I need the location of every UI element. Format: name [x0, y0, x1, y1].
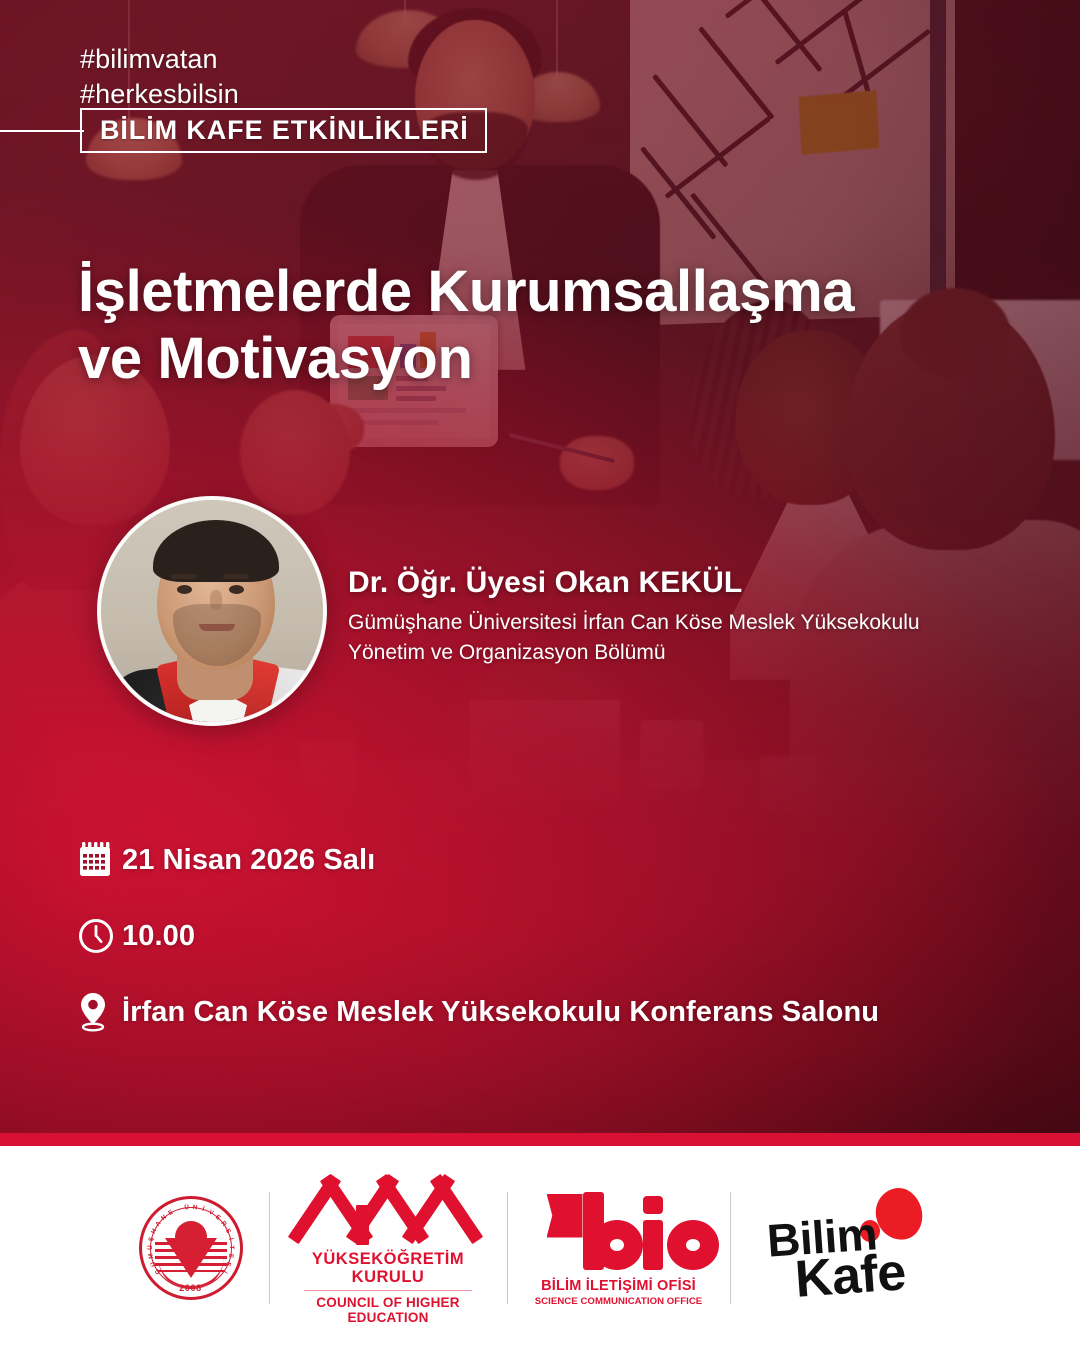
- badge-rule: [0, 130, 84, 132]
- seal-text-char: E: [167, 1209, 174, 1217]
- speaker-affiliation: Gümüşhane Üniversitesi İrfan Can Köse Me…: [348, 608, 920, 669]
- accent-bar: [0, 1133, 1080, 1146]
- seal-text-char: S: [223, 1228, 231, 1235]
- logo-bio: BİLİM İLETİŞİMİ OFİSİ SCIENCE COMMUNICAT…: [508, 1186, 730, 1310]
- badge-label: BİLİM KAFE ETKİNLİKLERİ: [100, 115, 469, 146]
- speaker-name: Dr. Öğr. Üyesi Okan KEKÜL: [348, 566, 920, 600]
- bilim-kafe-word-2: Kafe: [793, 1242, 908, 1310]
- location-pin-icon: [78, 992, 122, 1032]
- hero-photo-area: #bilimvatan #herkesbilsin BİLİM KAFE ETK…: [0, 0, 1080, 1133]
- detail-row-time: 10.00: [78, 910, 978, 962]
- event-date: 21 Nisan 2026 Salı: [122, 844, 375, 877]
- seal-text-char: R: [219, 1220, 227, 1228]
- seal-text-char: M: [147, 1253, 155, 1260]
- bio-letter-i-dot: [643, 1196, 663, 1214]
- seal-text-char: N: [192, 1204, 197, 1211]
- calendar-icon: [78, 842, 122, 878]
- seal-text-char: Ü: [146, 1245, 153, 1250]
- bio-letter-i: [643, 1220, 663, 1270]
- seal-text-char: Ş: [147, 1236, 155, 1242]
- seal-text-char: Ü: [184, 1204, 189, 1211]
- event-details: 21 Nisan 2026 Salı 10.00: [78, 834, 978, 1062]
- title-line-1: İşletmelerde Kurumsallaşma: [78, 258, 958, 325]
- speaker-affiliation-line-1: Gümüşhane Üniversitesi İrfan Can Köse Me…: [348, 608, 920, 638]
- speaker-info: Dr. Öğr. Üyesi Okan KEKÜL Gümüşhane Üniv…: [348, 566, 920, 669]
- badge-row: BİLİM KAFE ETKİNLİKLERİ: [0, 108, 460, 154]
- seal-text-char: A: [154, 1220, 162, 1228]
- event-series-badge: BİLİM KAFE ETKİNLİKLERİ: [80, 108, 487, 153]
- seal-year: 2008: [139, 1283, 243, 1293]
- speaker-affiliation-line-2: Yönetim ve Organizasyon Bölümü: [348, 638, 920, 668]
- bio-logo: BİLİM İLETİŞİMİ OFİSİ SCIENCE COMMUNICAT…: [534, 1190, 704, 1307]
- avatar-nose: [210, 590, 222, 610]
- bio-wordmark-icon: [543, 1190, 695, 1270]
- yok-label-tr: YÜKSEKÖĞRETİM KURULU: [296, 1250, 481, 1286]
- avatar-mouth: [199, 624, 235, 631]
- seal-text-char: N: [159, 1214, 167, 1222]
- bio-flag-shape: [547, 1194, 583, 1238]
- hashtag-bilimvatan: #bilimvatan: [80, 42, 239, 77]
- avatar-eye-right: [229, 585, 244, 594]
- seal-text-char: İ: [220, 1268, 227, 1274]
- logo-bilim-kafe: Bilim Kafe: [731, 1186, 968, 1310]
- seal-text-char: G: [153, 1267, 162, 1275]
- logo-yok: YÜKSEKÖĞRETİM KURULU COUNCIL OF HIGHER E…: [270, 1186, 507, 1310]
- yok-label-en: COUNCIL OF HIGHER EDUCATION: [296, 1295, 481, 1325]
- title-line-2: ve Motivasyon: [78, 325, 958, 392]
- logo-gumushane-universitesi: GÜMÜŞHANEÜNİVERSİTESİ 2008: [113, 1186, 269, 1310]
- avatar-eyebrow-left: [171, 574, 197, 579]
- bio-letter-b-bowl: [591, 1220, 643, 1270]
- logo-row: GÜMÜŞHANEÜNİVERSİTESİ 2008: [113, 1186, 968, 1310]
- seal-text-char: Ü: [149, 1260, 157, 1267]
- bio-label-tr: BİLİM İLETİŞİMİ OFİSİ: [534, 1278, 704, 1294]
- avatar-eye-left: [177, 585, 192, 594]
- detail-row-location: İrfan Can Köse Meslek Yüksekokulu Konfer…: [78, 986, 978, 1038]
- bio-label-en: SCIENCE COMMUNICATION OFFICE: [534, 1296, 704, 1307]
- yok-rule: [304, 1290, 472, 1292]
- event-time: 10.00: [122, 920, 195, 953]
- bio-letter-o: [667, 1220, 719, 1270]
- page-title: İşletmelerde Kurumsallaşma ve Motivasyon: [78, 258, 958, 393]
- avatar: [97, 496, 327, 726]
- hashtag-block: #bilimvatan #herkesbilsin: [80, 42, 239, 112]
- bilim-kafe-logo: Bilim Kafe: [757, 1186, 942, 1310]
- footer-logo-bar: GÜMÜŞHANEÜNİVERSİTESİ 2008: [0, 1146, 1080, 1350]
- seal-text-char: İ: [201, 1206, 205, 1213]
- seal-text-char: H: [149, 1228, 157, 1235]
- seal-text-char: E: [226, 1253, 234, 1259]
- bilim-kafe-blob-icon: [871, 1184, 925, 1243]
- event-location: İrfan Can Köse Meslek Yüksekokulu Konfer…: [122, 996, 879, 1029]
- detail-row-date: 21 Nisan 2026 Salı: [78, 834, 978, 886]
- seal-text-char: S: [224, 1260, 232, 1267]
- gumushane-seal-icon: GÜMÜŞHANEÜNİVERSİTESİ 2008: [139, 1196, 243, 1300]
- seal-text-char: E: [213, 1214, 221, 1222]
- avatar-eyebrow-right: [223, 574, 249, 579]
- yok-logo: YÜKSEKÖĞRETİM KURULU COUNCIL OF HIGHER E…: [296, 1171, 481, 1326]
- clock-icon: [78, 918, 122, 954]
- seal-text-char: İ: [226, 1237, 233, 1240]
- hashtag-herkesbilsin: #herkesbilsin: [80, 77, 239, 112]
- yok-mark-icon: [304, 1171, 472, 1241]
- event-poster: #bilimvatan #herkesbilsin BİLİM KAFE ETK…: [0, 0, 1080, 1350]
- seal-text-char: T: [227, 1245, 234, 1249]
- seal-text-char: V: [207, 1209, 214, 1217]
